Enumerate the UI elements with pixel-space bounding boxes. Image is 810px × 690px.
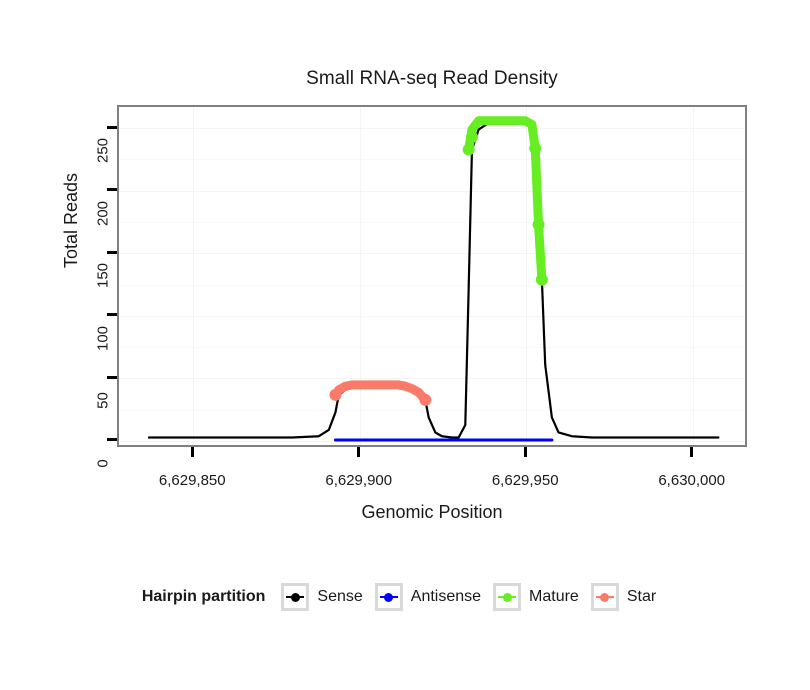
line-dot-icon [591, 583, 619, 611]
legend-key-dot [600, 593, 609, 602]
series-point-mature [466, 131, 478, 143]
legend-entry-antisense[interactable]: Antisense [375, 583, 481, 611]
series-point-star [419, 394, 431, 406]
y-axis-tick-label: 250 [95, 127, 112, 175]
x-axis-tick-label: 6,629,900 [289, 472, 429, 489]
legend-title: Hairpin partition [142, 588, 266, 606]
legend-entry-mature[interactable]: Mature [493, 583, 579, 611]
y-axis-tick-label: 0 [95, 439, 112, 487]
series-point-star [329, 389, 341, 401]
series-line-sense [149, 121, 718, 438]
chart-figure: Small RNA-seq Read Density 0501001502002… [0, 0, 810, 690]
legend: Hairpin partition SenseAntisenseMatureSt… [0, 583, 810, 611]
x-axis-tick [690, 447, 693, 457]
legend-label: Mature [529, 588, 579, 606]
line-dot-icon [493, 583, 521, 611]
y-axis-tick-label: 50 [95, 377, 112, 425]
legend-label: Star [627, 588, 656, 606]
legend-label: Sense [317, 588, 362, 606]
legend-key-dot [384, 593, 393, 602]
chart-title: Small RNA-seq Read Density [117, 68, 747, 90]
x-axis-tick [191, 447, 194, 457]
series-line-star [335, 385, 425, 400]
legend-label: Antisense [411, 588, 481, 606]
y-axis-tick-label: 100 [95, 314, 112, 362]
legend-key-dot [503, 593, 512, 602]
series-point-mature [536, 274, 548, 286]
legend-entry-sense[interactable]: Sense [281, 583, 362, 611]
y-axis-tick-label: 150 [95, 252, 112, 300]
line-dot-icon [375, 583, 403, 611]
series-point-mature [533, 219, 545, 231]
y-axis-tick-label: 200 [95, 189, 112, 237]
x-axis-title: Genomic Position [117, 502, 747, 523]
plot-panel [117, 105, 747, 447]
plot-area [119, 107, 745, 445]
x-axis-tick-label: 6,629,850 [122, 472, 262, 489]
line-dot-icon [281, 583, 309, 611]
x-axis-tick-label: 6,630,000 [622, 472, 762, 489]
legend-entry-star[interactable]: Star [591, 583, 656, 611]
y-axis-title: Total Reads [61, 173, 82, 268]
x-axis-tick [357, 447, 360, 457]
x-axis-tick-label: 6,629,950 [455, 472, 595, 489]
x-axis-tick [524, 447, 527, 457]
series-point-mature [463, 144, 475, 156]
series-point-mature [529, 142, 541, 154]
legend-key-dot [291, 593, 300, 602]
